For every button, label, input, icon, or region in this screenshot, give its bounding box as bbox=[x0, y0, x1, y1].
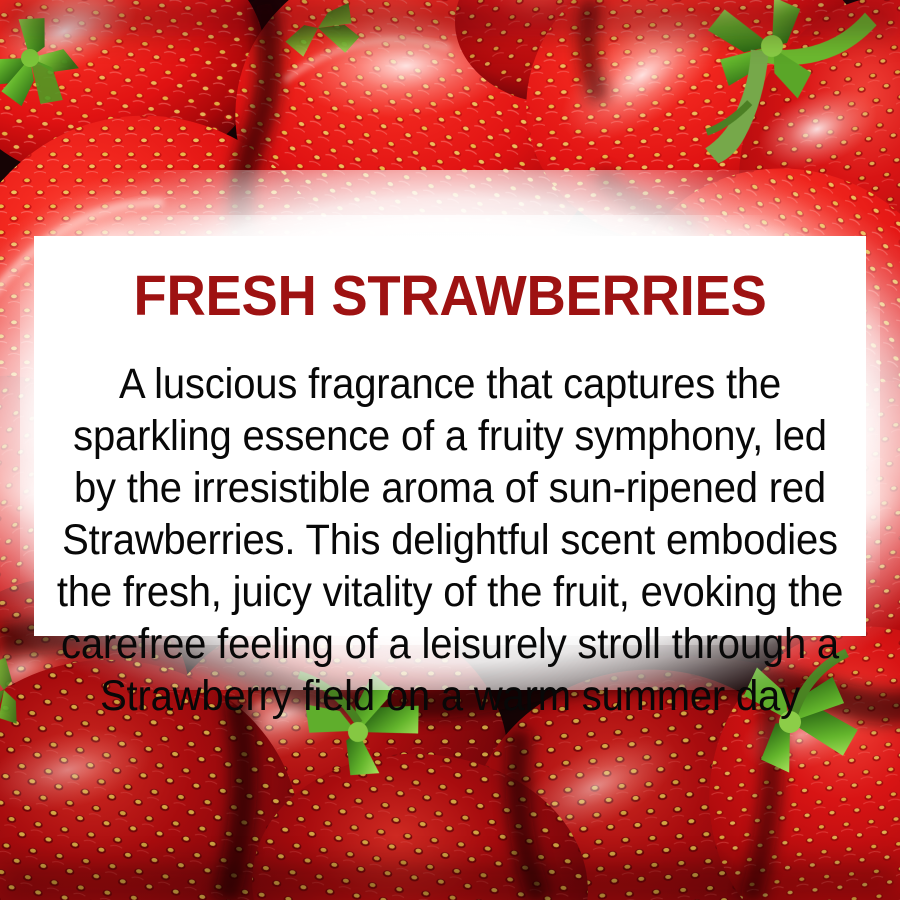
page-title: FRESH STRAWBERRIES bbox=[20, 266, 880, 326]
description-line: A luscious fragrance that captures the bbox=[54, 358, 846, 410]
text-layer: FRESH STRAWBERRIES A luscious fragrance … bbox=[0, 0, 900, 900]
description-line: by the irresistible aroma of sun-ripened… bbox=[54, 462, 846, 514]
description-line: Strawberry field on a warm summer day bbox=[54, 670, 846, 722]
strawberry-poster: FRESH STRAWBERRIES A luscious fragrance … bbox=[0, 0, 900, 900]
description-line: the fresh, juicy vitality of the fruit, … bbox=[54, 566, 846, 618]
description-line: Strawberries. This delightful scent embo… bbox=[54, 514, 846, 566]
description-text: A luscious fragrance that captures the s… bbox=[24, 358, 876, 722]
description-line: carefree feeling of a leisurely stroll t… bbox=[54, 618, 846, 670]
description-line: sparkling essence of a fruity symphony, … bbox=[54, 410, 846, 462]
